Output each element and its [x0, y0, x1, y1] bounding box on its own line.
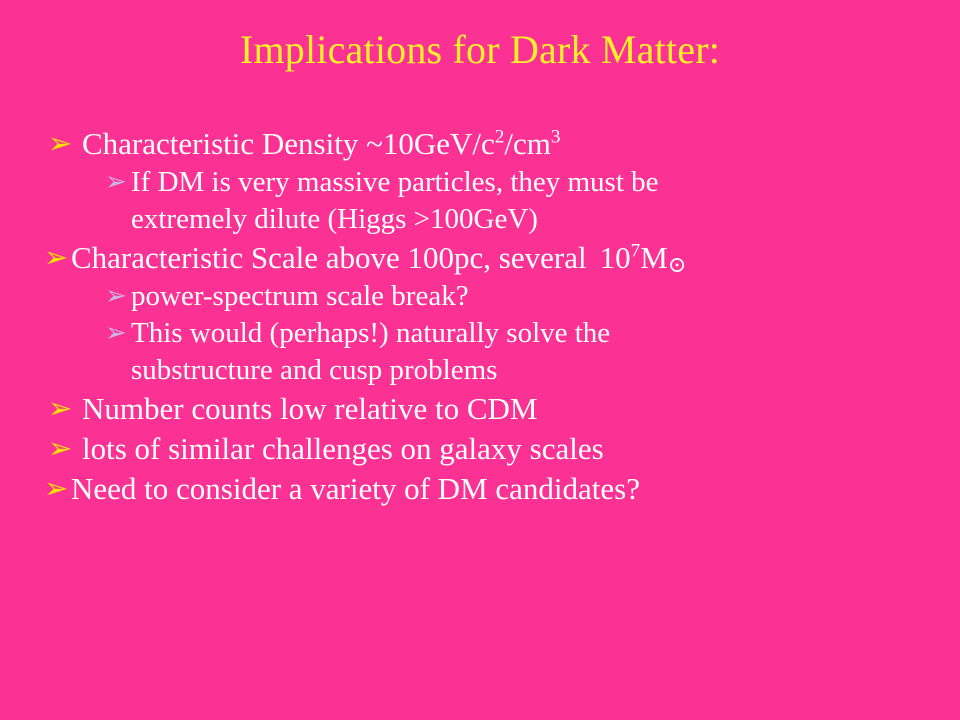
list-item-label: Need to consider a variety of DM candida…: [71, 469, 960, 508]
list-item-label: Characteristic Density ~10GeV/c2/cm3: [82, 124, 960, 163]
list-item: ➢ This would (perhaps!) naturally solve …: [0, 315, 960, 352]
list-item: ➢ Characteristic Density ~10GeV/c2/cm3: [0, 124, 960, 163]
list-item: ➢ Characteristic Scale above 100pc, seve…: [0, 238, 960, 277]
list-item: ➢ power-spectrum scale break?: [0, 278, 960, 315]
presentation-slide: Implications for Dark Matter: ➢ Characte…: [0, 0, 960, 720]
page-title: Implications for Dark Matter:: [0, 26, 960, 74]
list-item-continuation: extremely dilute (Higgs >100GeV): [0, 201, 960, 238]
list-item: ➢ lots of similar challenges on galaxy s…: [0, 429, 960, 468]
bullet-1-superscript-2: 3: [551, 127, 561, 148]
list-item-continuation: substructure and cusp problems: [0, 352, 960, 389]
list-item-label: If DM is very massive particles, they mu…: [131, 164, 960, 201]
list-item-label: This would (perhaps!) naturally solve th…: [131, 315, 960, 352]
arrow-bullet-icon: ➢: [105, 169, 131, 195]
bullet-3-exponent: 7: [631, 241, 641, 262]
list-item-label: Characteristic Scale above 100pc, severa…: [71, 238, 960, 277]
list-item-label: Number counts low relative to CDM: [82, 389, 960, 428]
list-item: ➢ Number counts low relative to CDM: [0, 389, 960, 428]
bullet-1-text-prefix: Characteristic Density ~10GeV/c: [82, 126, 495, 161]
bullet-3-text-prefix: Characteristic Scale above 100pc, severa…: [71, 240, 587, 275]
slide-body-list: ➢ Characteristic Density ~10GeV/c2/cm3 ➢…: [0, 124, 960, 509]
arrow-bullet-icon: ➢: [105, 320, 131, 346]
arrow-bullet-icon: ➢: [48, 394, 82, 423]
bullet-1-text-mid: /cm: [504, 126, 551, 161]
arrow-bullet-icon: ➢: [105, 283, 131, 309]
list-item: ➢ Need to consider a variety of DM candi…: [0, 469, 960, 508]
arrow-bullet-icon: ➢: [44, 474, 71, 503]
arrow-bullet-icon: ➢: [48, 434, 82, 463]
arrow-bullet-icon: ➢: [48, 129, 82, 158]
list-item-label: power-spectrum scale break?: [131, 278, 960, 315]
list-item-label: lots of similar challenges on galaxy sca…: [82, 429, 960, 468]
arrow-bullet-icon: ➢: [44, 243, 71, 272]
solar-mass-icon: ⊙: [668, 252, 687, 277]
bullet-1-superscript-1: 2: [495, 127, 505, 148]
bullet-3-mass-unit: M: [640, 240, 668, 275]
list-item: ➢ If DM is very massive particles, they …: [0, 164, 960, 201]
bullet-3-exponent-base: 10: [600, 240, 631, 275]
